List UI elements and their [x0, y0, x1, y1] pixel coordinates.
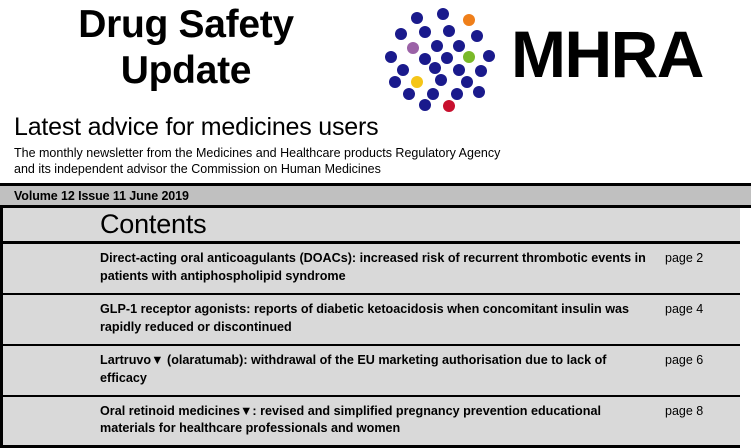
contents-item-title: Lartruvo▼ (olaratumab): withdrawal of th… — [3, 352, 662, 388]
table-row[interactable]: Direct-acting oral anticoagulants (DOACs… — [3, 244, 740, 293]
table-row[interactable]: Oral retinoid medicines▼: revised and si… — [3, 397, 740, 446]
contents-item-page: page 8 — [662, 403, 740, 421]
contents-heading-row: Contents — [3, 208, 740, 241]
strapline-sub-line-2: and its independent advisor the Commissi… — [14, 161, 751, 178]
volume-bar: Volume 12 Issue 11 June 2019 — [0, 186, 751, 205]
contents-table: Contents Direct-acting oral anticoagulan… — [0, 208, 740, 448]
publication-title: Drug Safety Update — [0, 0, 372, 95]
masthead: Drug Safety Update — [0, 0, 751, 112]
mhra-dot-emblem-icon — [385, 6, 503, 109]
contents-item-page: page 6 — [662, 352, 740, 370]
volume-issue-label: Volume 12 Issue 11 June 2019 — [14, 189, 189, 203]
publication-title-line-2: Update — [0, 48, 372, 94]
strapline-heading: Latest advice for medicines users — [14, 114, 751, 142]
mhra-wordmark: MHRA — [511, 21, 703, 87]
contents-item-title: Direct-acting oral anticoagulants (DOACs… — [3, 250, 662, 286]
contents-heading: Contents — [100, 211, 206, 238]
publication-title-line-1: Drug Safety — [0, 2, 372, 48]
strapline-sub-line-1: The monthly newsletter from the Medicine… — [14, 145, 751, 162]
strapline: Latest advice for medicines users The mo… — [0, 112, 751, 178]
table-row[interactable]: Lartruvo▼ (olaratumab): withdrawal of th… — [3, 346, 740, 395]
contents-item-title: Oral retinoid medicines▼: revised and si… — [3, 403, 662, 439]
contents-item-page: page 4 — [662, 301, 740, 319]
contents-item-title: GLP-1 receptor agonists: reports of diab… — [3, 301, 662, 337]
table-row[interactable]: GLP-1 receptor agonists: reports of diab… — [3, 295, 740, 344]
contents-item-page: page 2 — [662, 250, 740, 268]
mhra-logo: MHRA — [372, 0, 751, 112]
